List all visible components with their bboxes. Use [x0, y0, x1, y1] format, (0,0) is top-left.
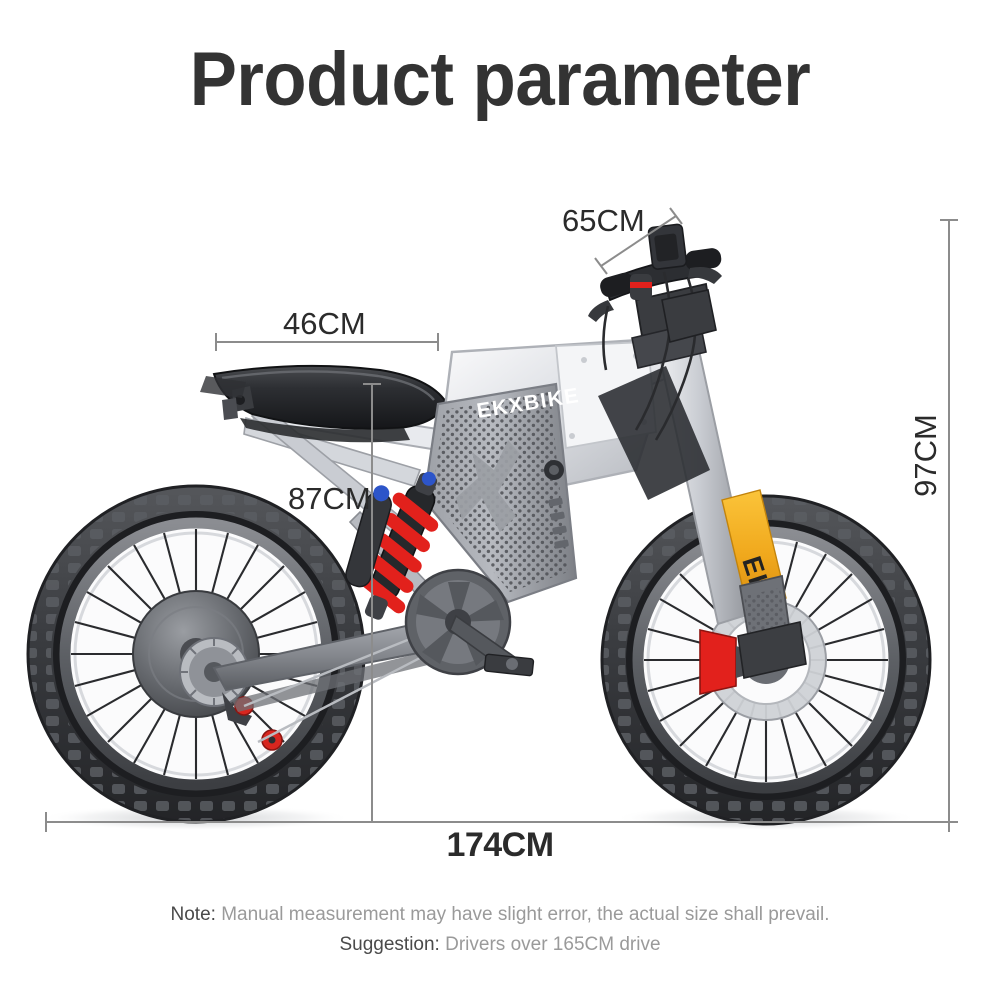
suggestion-label: Suggestion: [339, 934, 439, 955]
note-line: Note: Manual measurement may have slight… [0, 900, 1000, 930]
dimension-label-seat-height: 87CM [288, 483, 371, 514]
suggestion-text: Drivers over 165CM drive [440, 934, 661, 955]
note-label: Note: [171, 904, 216, 925]
dimension-label-seat-length: 46CM [283, 308, 366, 339]
dimension-line-97 [940, 220, 958, 822]
suggestion-line: Suggestion: Drivers over 165CM drive [0, 930, 1000, 960]
note-text: Manual measurement may have slight error… [216, 904, 830, 925]
footer-notes: Note: Manual measurement may have slight… [0, 900, 1000, 960]
dimension-label-handlebar-width: 65CM [562, 205, 645, 236]
dimension-label-overall-height: 97CM [910, 414, 941, 497]
product-parameter-page: Product parameter [0, 0, 1000, 1000]
dimension-line-87 [363, 384, 381, 822]
dimension-label-overall-length: 174CM [0, 828, 1000, 862]
